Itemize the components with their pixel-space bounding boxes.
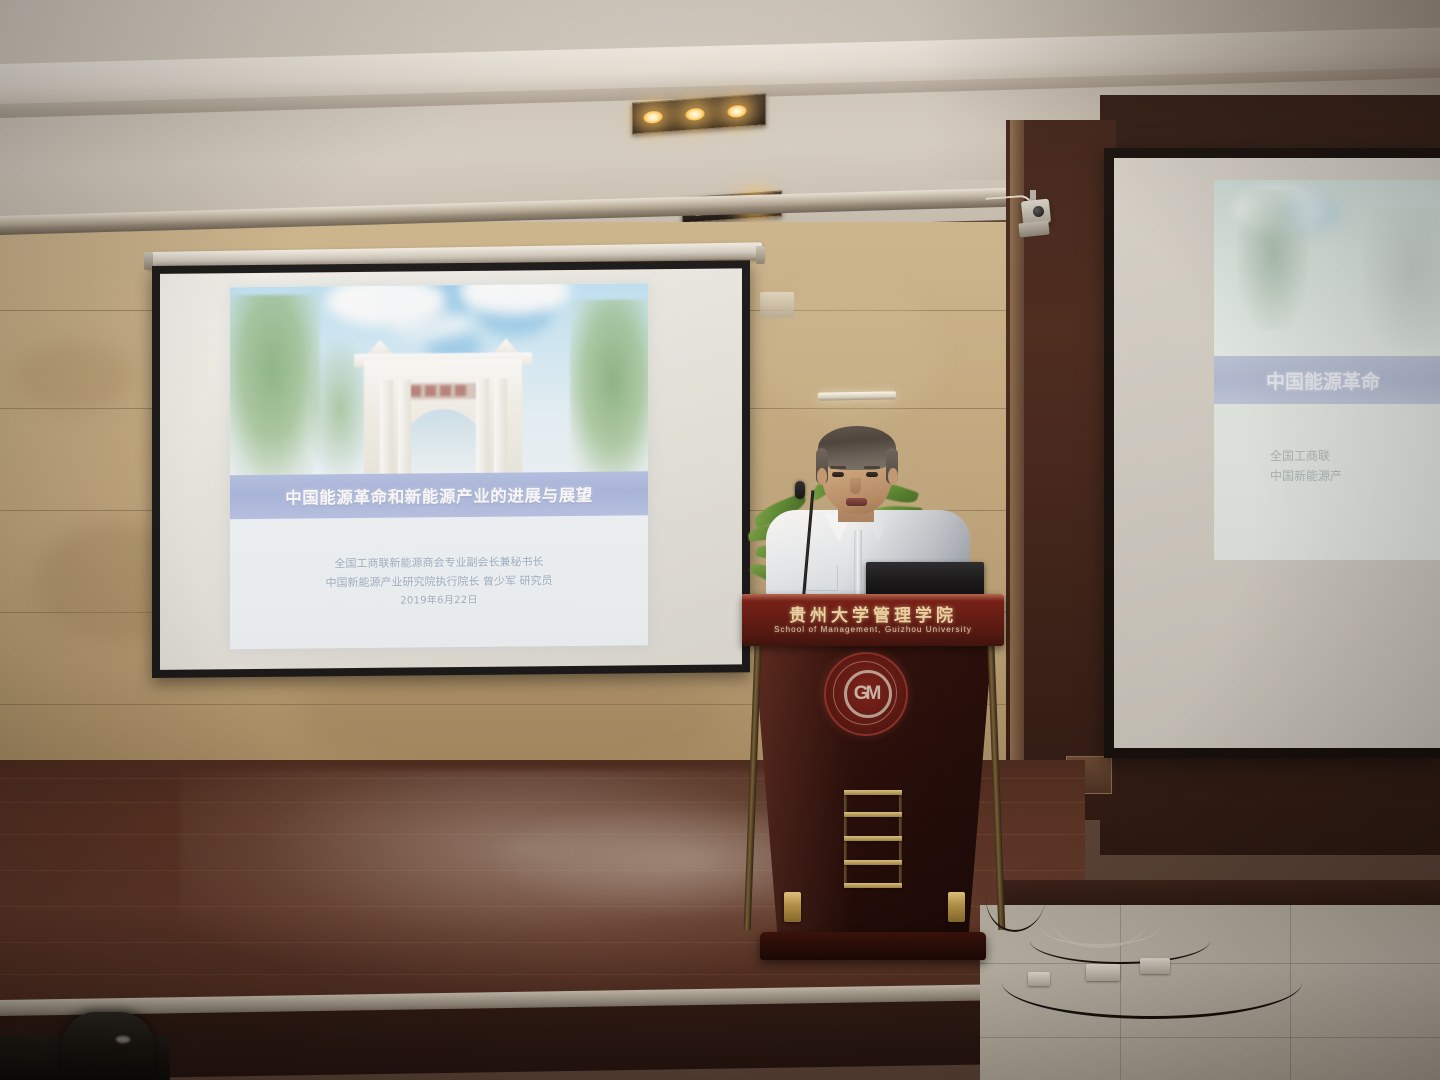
projection-screen-secondary: 中国能源革命 全国工商联 中国新能源产 <box>1104 148 1440 758</box>
speaker-eye-left <box>832 472 844 477</box>
foreground-video-camera <box>62 1012 154 1080</box>
presentation-slide-main: 中国能源革命和新能源产业的进展与展望 全国工商联新能源商会专业副会长兼秘书长 中… <box>230 283 648 649</box>
wall-marking <box>760 292 794 318</box>
podium-brass-rungs <box>844 790 902 888</box>
floor-cable-light-2 <box>1054 898 1146 948</box>
speaker-nose <box>850 478 861 494</box>
spotlight-lamp-icon <box>727 104 747 118</box>
slide-tree-left <box>230 294 320 477</box>
presentation-slide-secondary: 中国能源革命 全国工商联 中国新能源产 <box>1214 180 1440 560</box>
slide-photo-campus-gate <box>230 283 648 477</box>
slide2-subtitle-line-1: 全国工商联 <box>1270 446 1440 466</box>
podium-post-cap-right <box>948 892 965 922</box>
fluorescent-tube-light <box>818 391 896 400</box>
gate-plaque <box>408 383 480 400</box>
slide2-photo <box>1214 180 1440 358</box>
screen-housing-end-cap <box>756 246 765 264</box>
speaker-mouth <box>846 498 867 506</box>
microphone-icon <box>795 481 805 499</box>
power-strip-2 <box>1140 958 1170 974</box>
presenter-laptop <box>866 562 984 598</box>
slide2-subtitle-line-2: 中国新能源产 <box>1270 466 1440 486</box>
slide2-title-band: 中国能源革命 <box>1214 356 1440 404</box>
podium: GM 贵州大学管理学院 School of Management, Guizho… <box>742 594 1004 976</box>
spotlight-lamp-icon <box>685 107 705 121</box>
podium-nameplate: 贵州大学管理学院 School of Management, Guizhou U… <box>742 594 1004 646</box>
podium-english-name: School of Management, Guizhou University <box>742 625 1004 634</box>
nameplate-highlight <box>742 594 1004 601</box>
screen-surface-secondary: 中国能源革命 全国工商联 中国新能源产 <box>1114 158 1440 748</box>
projection-screen-main: 中国能源革命和新能源产业的进展与展望 全国工商联新能源商会专业副会长兼秘书长 中… <box>152 260 750 678</box>
slide2-subtitle-block: 全国工商联 中国新能源产 <box>1214 446 1440 486</box>
slide-date: 2019年6月22日 <box>230 589 648 612</box>
podium-base <box>760 932 986 960</box>
camera-lens-icon <box>1033 206 1044 217</box>
speaker-brow-left <box>830 466 846 469</box>
speaker-brow-right <box>864 466 880 469</box>
school-emblem: GM <box>824 652 908 736</box>
slide-campus-archway <box>350 336 536 477</box>
podium-post-cap-left <box>784 892 801 922</box>
speaker-hair <box>818 426 896 470</box>
speaker-ear-right <box>888 468 898 485</box>
slide-title-band: 中国能源革命和新能源产业的进展与展望 <box>230 471 648 519</box>
power-strip-1 <box>1086 964 1120 981</box>
slide-tree-right <box>570 299 648 477</box>
podium-chinese-name: 贵州大学管理学院 <box>742 601 1004 626</box>
podium-post-left <box>744 600 764 930</box>
speaker-ear-left <box>817 468 827 485</box>
slide-subtitle-block: 全国工商联新能源商会专业副会长兼秘书长 中国新能源产业研究院执行院长 曾少军 研… <box>230 551 648 612</box>
slide2-title: 中国能源革命 <box>1266 367 1380 394</box>
lecture-hall-scene: 中国能源革命和新能源产业的进展与展望 全国工商联新能源商会专业副会长兼秘书长 中… <box>0 0 1440 1080</box>
speaker-eye-right <box>866 472 878 477</box>
emblem-monogram: GM <box>826 654 906 734</box>
power-adapter <box>1028 972 1050 986</box>
spotlight-lamp-icon <box>643 110 663 124</box>
slide-title: 中国能源革命和新能源产业的进展与展望 <box>285 482 593 509</box>
